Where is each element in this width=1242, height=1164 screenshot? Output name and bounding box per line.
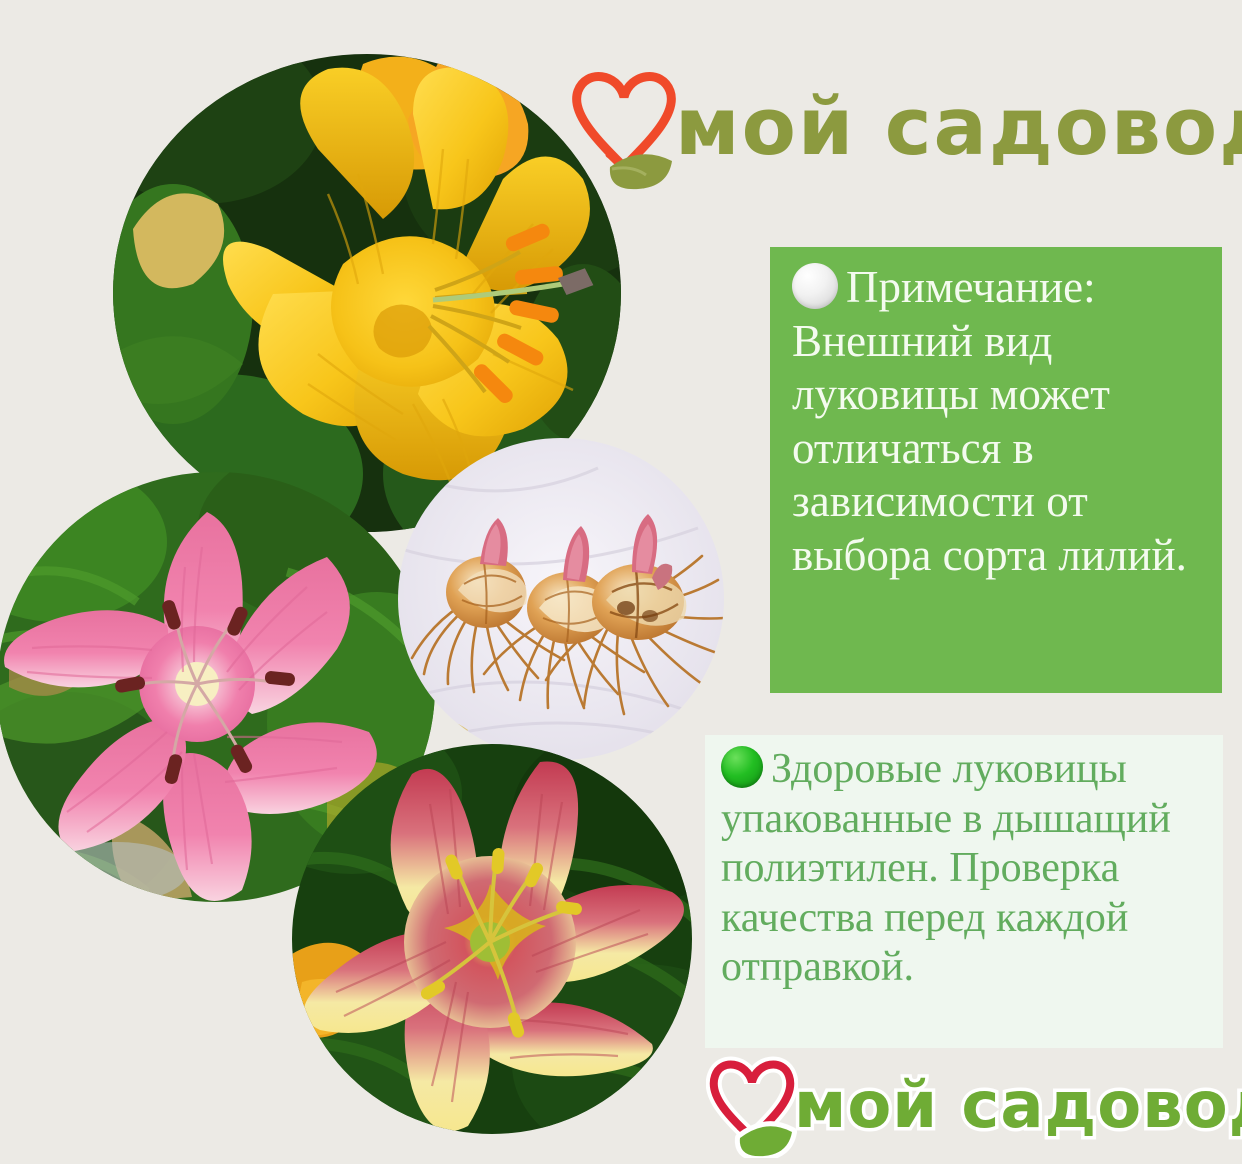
note-panel-body: Примечание: Внешний вид луковицы может о… [792, 261, 1200, 582]
note-panel: Примечание: Внешний вид луковицы может о… [770, 247, 1222, 693]
quality-panel: Здоровые луковицы упакованные в дышащий … [705, 735, 1223, 1048]
photo-bicolor-lily [292, 744, 692, 1134]
brand-logo-bottom: мой садовод [706, 1048, 1242, 1164]
quality-panel-body: Здоровые луковицы упакованные в дышащий … [721, 745, 1207, 993]
quality-panel-text: Здоровые луковицы упакованные в дышащий … [721, 746, 1171, 990]
poster-canvas: Примечание: Внешний вид луковицы может о… [0, 0, 1242, 1164]
brand-mark-bottom [706, 1054, 798, 1158]
brand-wordmark-bottom: мой садовод [794, 1074, 1242, 1138]
brand-logo-top: мой садовод [566, 52, 1226, 202]
white-sphere-bullet-icon [792, 263, 838, 309]
note-panel-text: Примечание: Внешний вид луковицы может о… [792, 262, 1187, 580]
brand-wordmark-top: мой садовод [675, 88, 1242, 167]
brand-mark-top [566, 63, 681, 191]
photo-lily-bulbs [398, 438, 724, 760]
green-sphere-bullet-icon [721, 746, 763, 788]
heart-outline-icon [577, 77, 672, 167]
